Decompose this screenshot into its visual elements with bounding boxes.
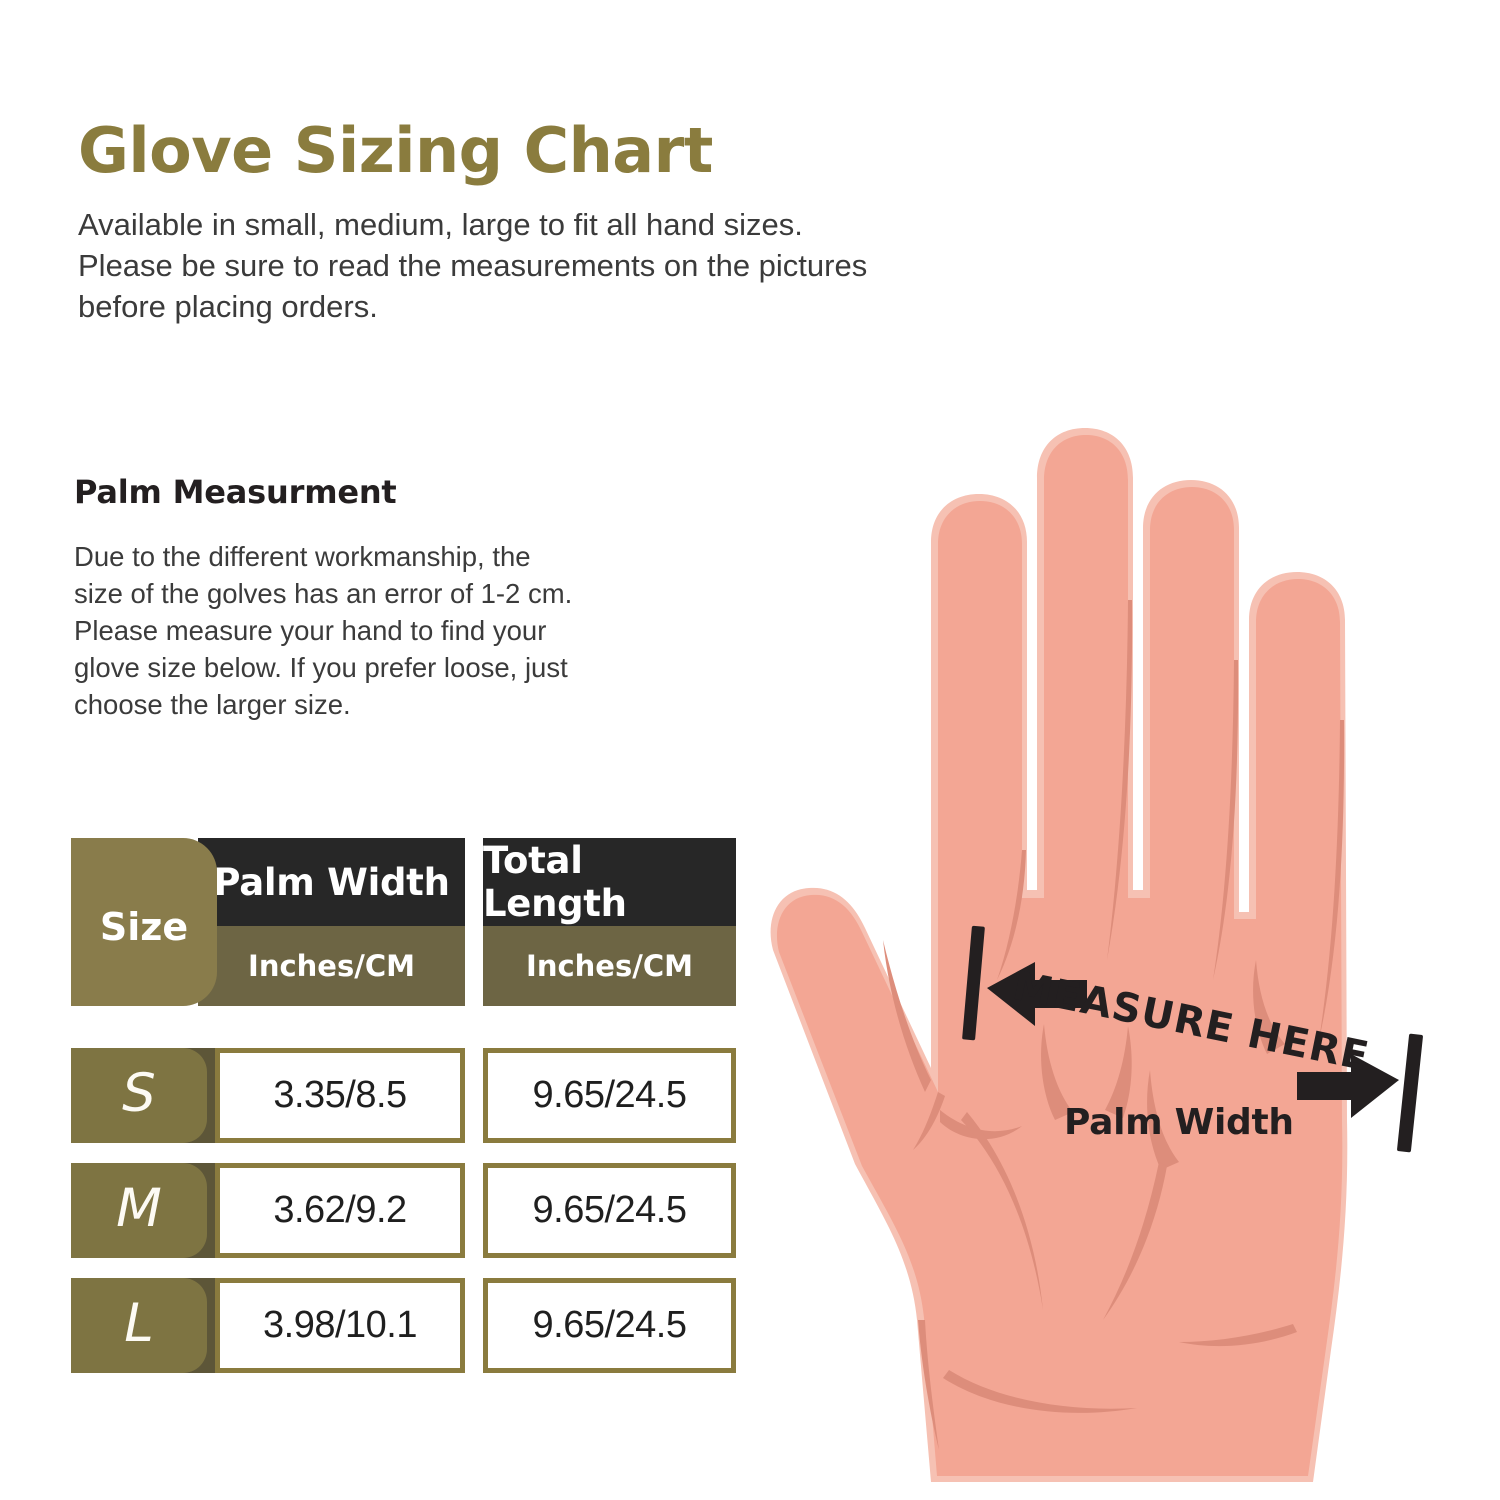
palm-measurement-heading: Palm Measurment [74,473,397,511]
table-header-palm-width-units: Inches/CM [198,926,465,1006]
table-header-palm-width-label: Palm Width [213,861,449,904]
intro-line-3: before placing orders. [78,286,1138,327]
cell-value: 9.65/24.5 [533,1074,687,1117]
intro-line-2: Please be sure to read the measurements … [78,245,1138,286]
cell-value: 3.98/10.1 [263,1304,417,1347]
cell-total-length-l: 9.65/24.5 [483,1278,736,1373]
cell-palm-width-s: 3.35/8.5 [215,1048,465,1143]
table-header-total-length-units-label: Inches/CM [526,949,693,983]
palm-width-label: Palm Width [1064,1102,1294,1143]
size-badge-label: S [122,1063,156,1124]
sizing-chart-page: Glove Sizing Chart Available in small, m… [0,0,1500,1500]
page-title: Glove Sizing Chart [78,114,713,187]
table-header-total-length-top: Total Length [483,838,736,926]
size-badge-label: L [124,1293,154,1354]
measure-tick-right-icon [1397,1034,1423,1153]
size-badge-chip: M [71,1163,207,1258]
cell-value: 3.62/9.2 [273,1189,406,1232]
open-palm-hand-icon [771,428,1348,1482]
palm-body-line-4: glove size below. If you prefer loose, j… [74,649,714,686]
size-badge-label: M [116,1178,162,1239]
cell-palm-width-m: 3.62/9.2 [215,1163,465,1258]
intro-paragraph: Available in small, medium, large to fit… [78,204,1138,327]
cell-palm-width-l: 3.98/10.1 [215,1278,465,1373]
table-header-size: Size [71,838,217,1006]
size-badge-chip: S [71,1048,207,1143]
palm-body-line-3: Please measure your hand to find your [74,612,714,649]
table-header-palm-width: Palm Width Inches/CM [198,838,465,1006]
palm-body-line-5: choose the larger size. [74,686,714,723]
cell-value: 9.65/24.5 [533,1304,687,1347]
table-header-total-length-label: Total Length [483,839,736,925]
table-header-total-length-units: Inches/CM [483,926,736,1006]
cell-value: 3.35/8.5 [273,1074,406,1117]
table-header-size-label: Size [100,905,188,949]
table-header-palm-width-top: Palm Width [198,838,465,926]
cell-total-length-m: 9.65/24.5 [483,1163,736,1258]
size-badge-chip: L [71,1278,207,1373]
palm-body-line-2: size of the golves has an error of 1-2 c… [74,575,714,612]
palm-measurement-body: Due to the different workmanship, the si… [74,538,714,723]
table-header-palm-width-units-label: Inches/CM [248,949,415,983]
cell-total-length-s: 9.65/24.5 [483,1048,736,1143]
hand-illustration [735,420,1495,1500]
palm-body-line-1: Due to the different workmanship, the [74,538,714,575]
intro-line-1: Available in small, medium, large to fit… [78,204,1138,245]
table-header-total-length: Total Length Inches/CM [483,838,736,1006]
cell-value: 9.65/24.5 [533,1189,687,1232]
